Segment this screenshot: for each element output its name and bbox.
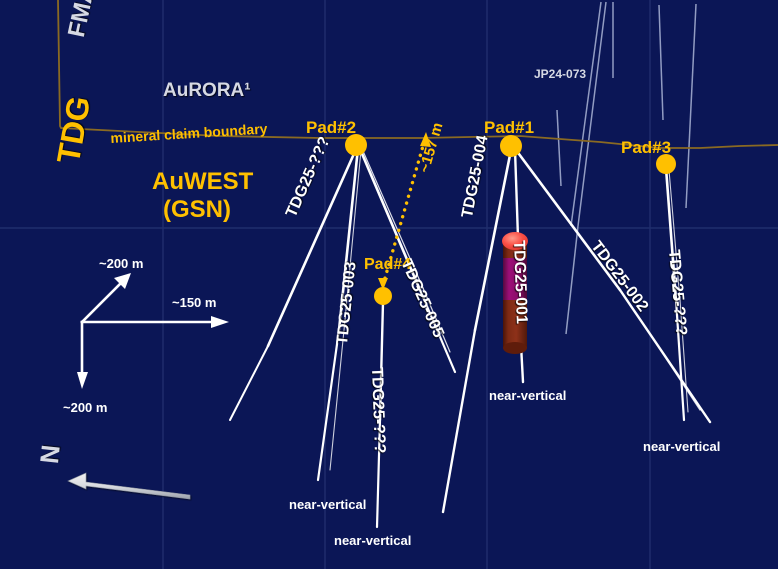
map-canvas xyxy=(0,0,778,569)
pad-marker-pad3[interactable] xyxy=(656,154,676,174)
pad-marker-pad2[interactable] xyxy=(345,134,367,156)
drill-plan-map: FMAR AuRORA¹ TDG AuWEST (GSN) mineral cl… xyxy=(0,0,778,569)
tdg25-001-core-cylinder xyxy=(502,232,528,354)
pad-marker-pad1[interactable] xyxy=(500,135,522,157)
tdg25-001-collar-cap xyxy=(502,232,528,250)
